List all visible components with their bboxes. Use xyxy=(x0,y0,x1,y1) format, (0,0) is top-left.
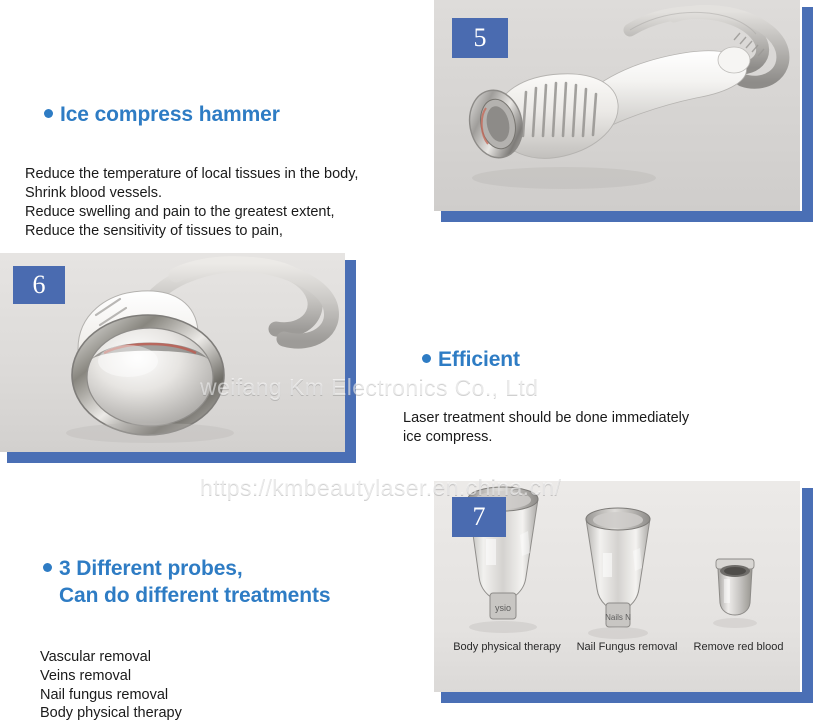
probe-captions: Body physical therapy Nail Fungus remova… xyxy=(446,641,791,653)
efficient-heading: Efficient xyxy=(399,318,799,401)
probe-caption: Body physical therapy xyxy=(446,641,568,653)
panel-badge-7: 7 xyxy=(452,497,506,537)
section-ice-compress: Ice compress hammer Reduce the temperatu… xyxy=(21,73,416,241)
product-panel-7: ysio Nails N xyxy=(434,481,813,703)
bullet-icon xyxy=(43,563,52,572)
probes-body: Vascular removal Veins removal Nail fung… xyxy=(40,648,420,723)
panel-badge-5: 5 xyxy=(452,18,508,58)
svg-text:ysio: ysio xyxy=(495,603,511,613)
panel-frame-right xyxy=(802,7,813,222)
probes-heading: 3 Different probes, Can do different tre… xyxy=(20,527,420,638)
probe-caption: Nail Fungus removal xyxy=(568,641,686,653)
panel-badge-6: 6 xyxy=(13,266,65,304)
ice-compress-body: Reduce the temperature of local tissues … xyxy=(25,165,416,240)
probe-caption: Remove red blood xyxy=(686,641,791,653)
section-probes: 3 Different probes, Can do different tre… xyxy=(20,527,420,723)
product-panel-6: 6 xyxy=(0,253,356,463)
ice-compress-heading-text: Ice compress hammer xyxy=(60,103,280,126)
bullet-icon xyxy=(44,109,53,118)
bullet-icon xyxy=(422,354,431,363)
efficient-heading-text: Efficient xyxy=(438,348,520,371)
svg-text:Nails N: Nails N xyxy=(605,613,631,622)
product-panel-5: 5 xyxy=(434,0,813,222)
probes-heading-text: 3 Different probes, Can do different tre… xyxy=(59,555,331,610)
section-efficient: Efficient Laser treatment should be done… xyxy=(399,318,799,447)
panel-frame-bottom xyxy=(7,452,356,463)
ice-compress-heading: Ice compress hammer xyxy=(21,73,416,156)
panel-frame-bottom xyxy=(441,692,813,703)
panel-frame-bottom xyxy=(441,211,813,222)
panel-frame-right xyxy=(802,488,813,703)
efficient-body: Laser treatment should be done immediate… xyxy=(403,409,799,447)
panel-frame-right xyxy=(345,260,356,463)
